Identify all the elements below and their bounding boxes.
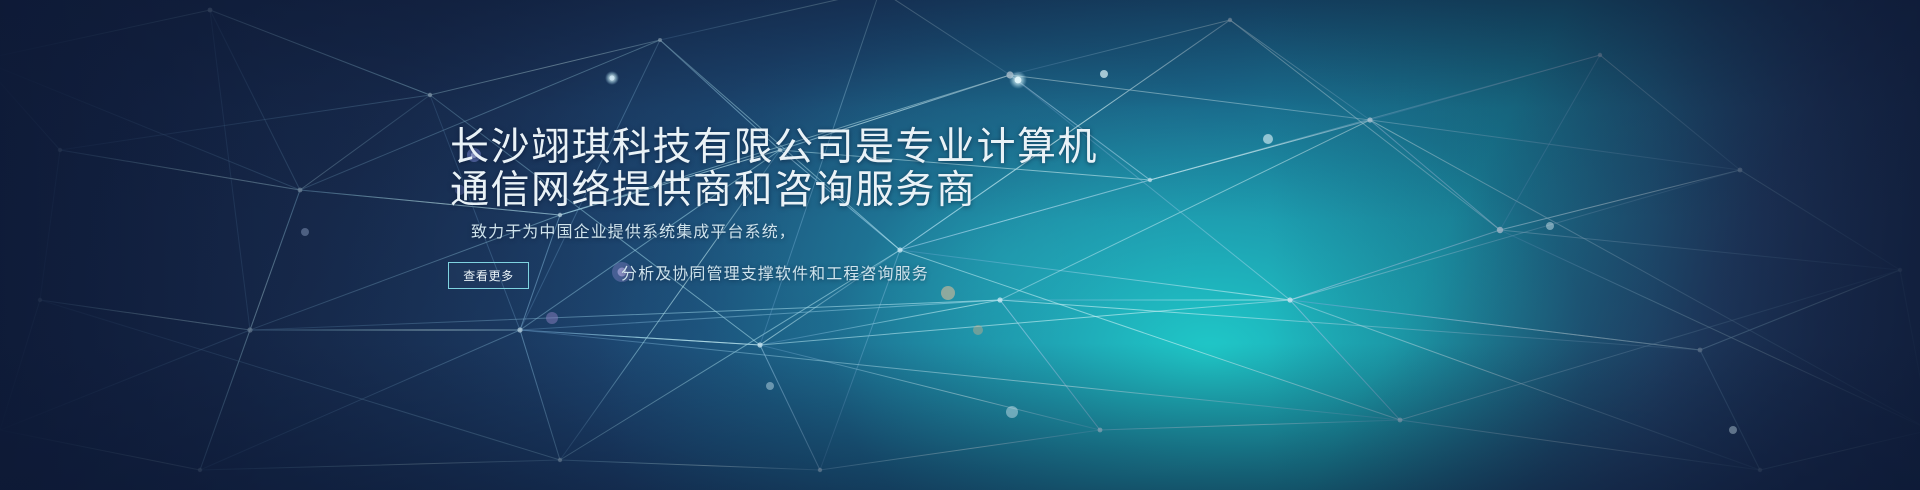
- subtitle-line-1: 致力于为中国企业提供系统集成平台系统，: [471, 224, 796, 241]
- view-more-button[interactable]: 查看更多: [448, 262, 529, 289]
- hero-content: 长沙翊琪科技有限公司是专业计算机 通信网络提供商和咨询服务商 致力于为中国企业提…: [0, 0, 1920, 490]
- hero-subtitle: 致力于为中国企业提供系统集成平台系统， 分析及协同管理支撑软件和工程咨询服务: [471, 212, 929, 296]
- subtitle-line-2: 分析及协同管理支撑软件和工程咨询服务: [621, 254, 929, 296]
- view-more-button-label: 查看更多: [463, 267, 513, 284]
- hero-headline: 长沙翊琪科技有限公司是专业计算机 通信网络提供商和咨询服务商: [450, 126, 1098, 212]
- headline-line-1: 长沙翊琪科技有限公司是专业计算机: [450, 126, 1098, 169]
- headline-line-2: 通信网络提供商和咨询服务商: [450, 169, 1098, 212]
- hero-banner: 长沙翊琪科技有限公司是专业计算机 通信网络提供商和咨询服务商 致力于为中国企业提…: [0, 0, 1920, 490]
